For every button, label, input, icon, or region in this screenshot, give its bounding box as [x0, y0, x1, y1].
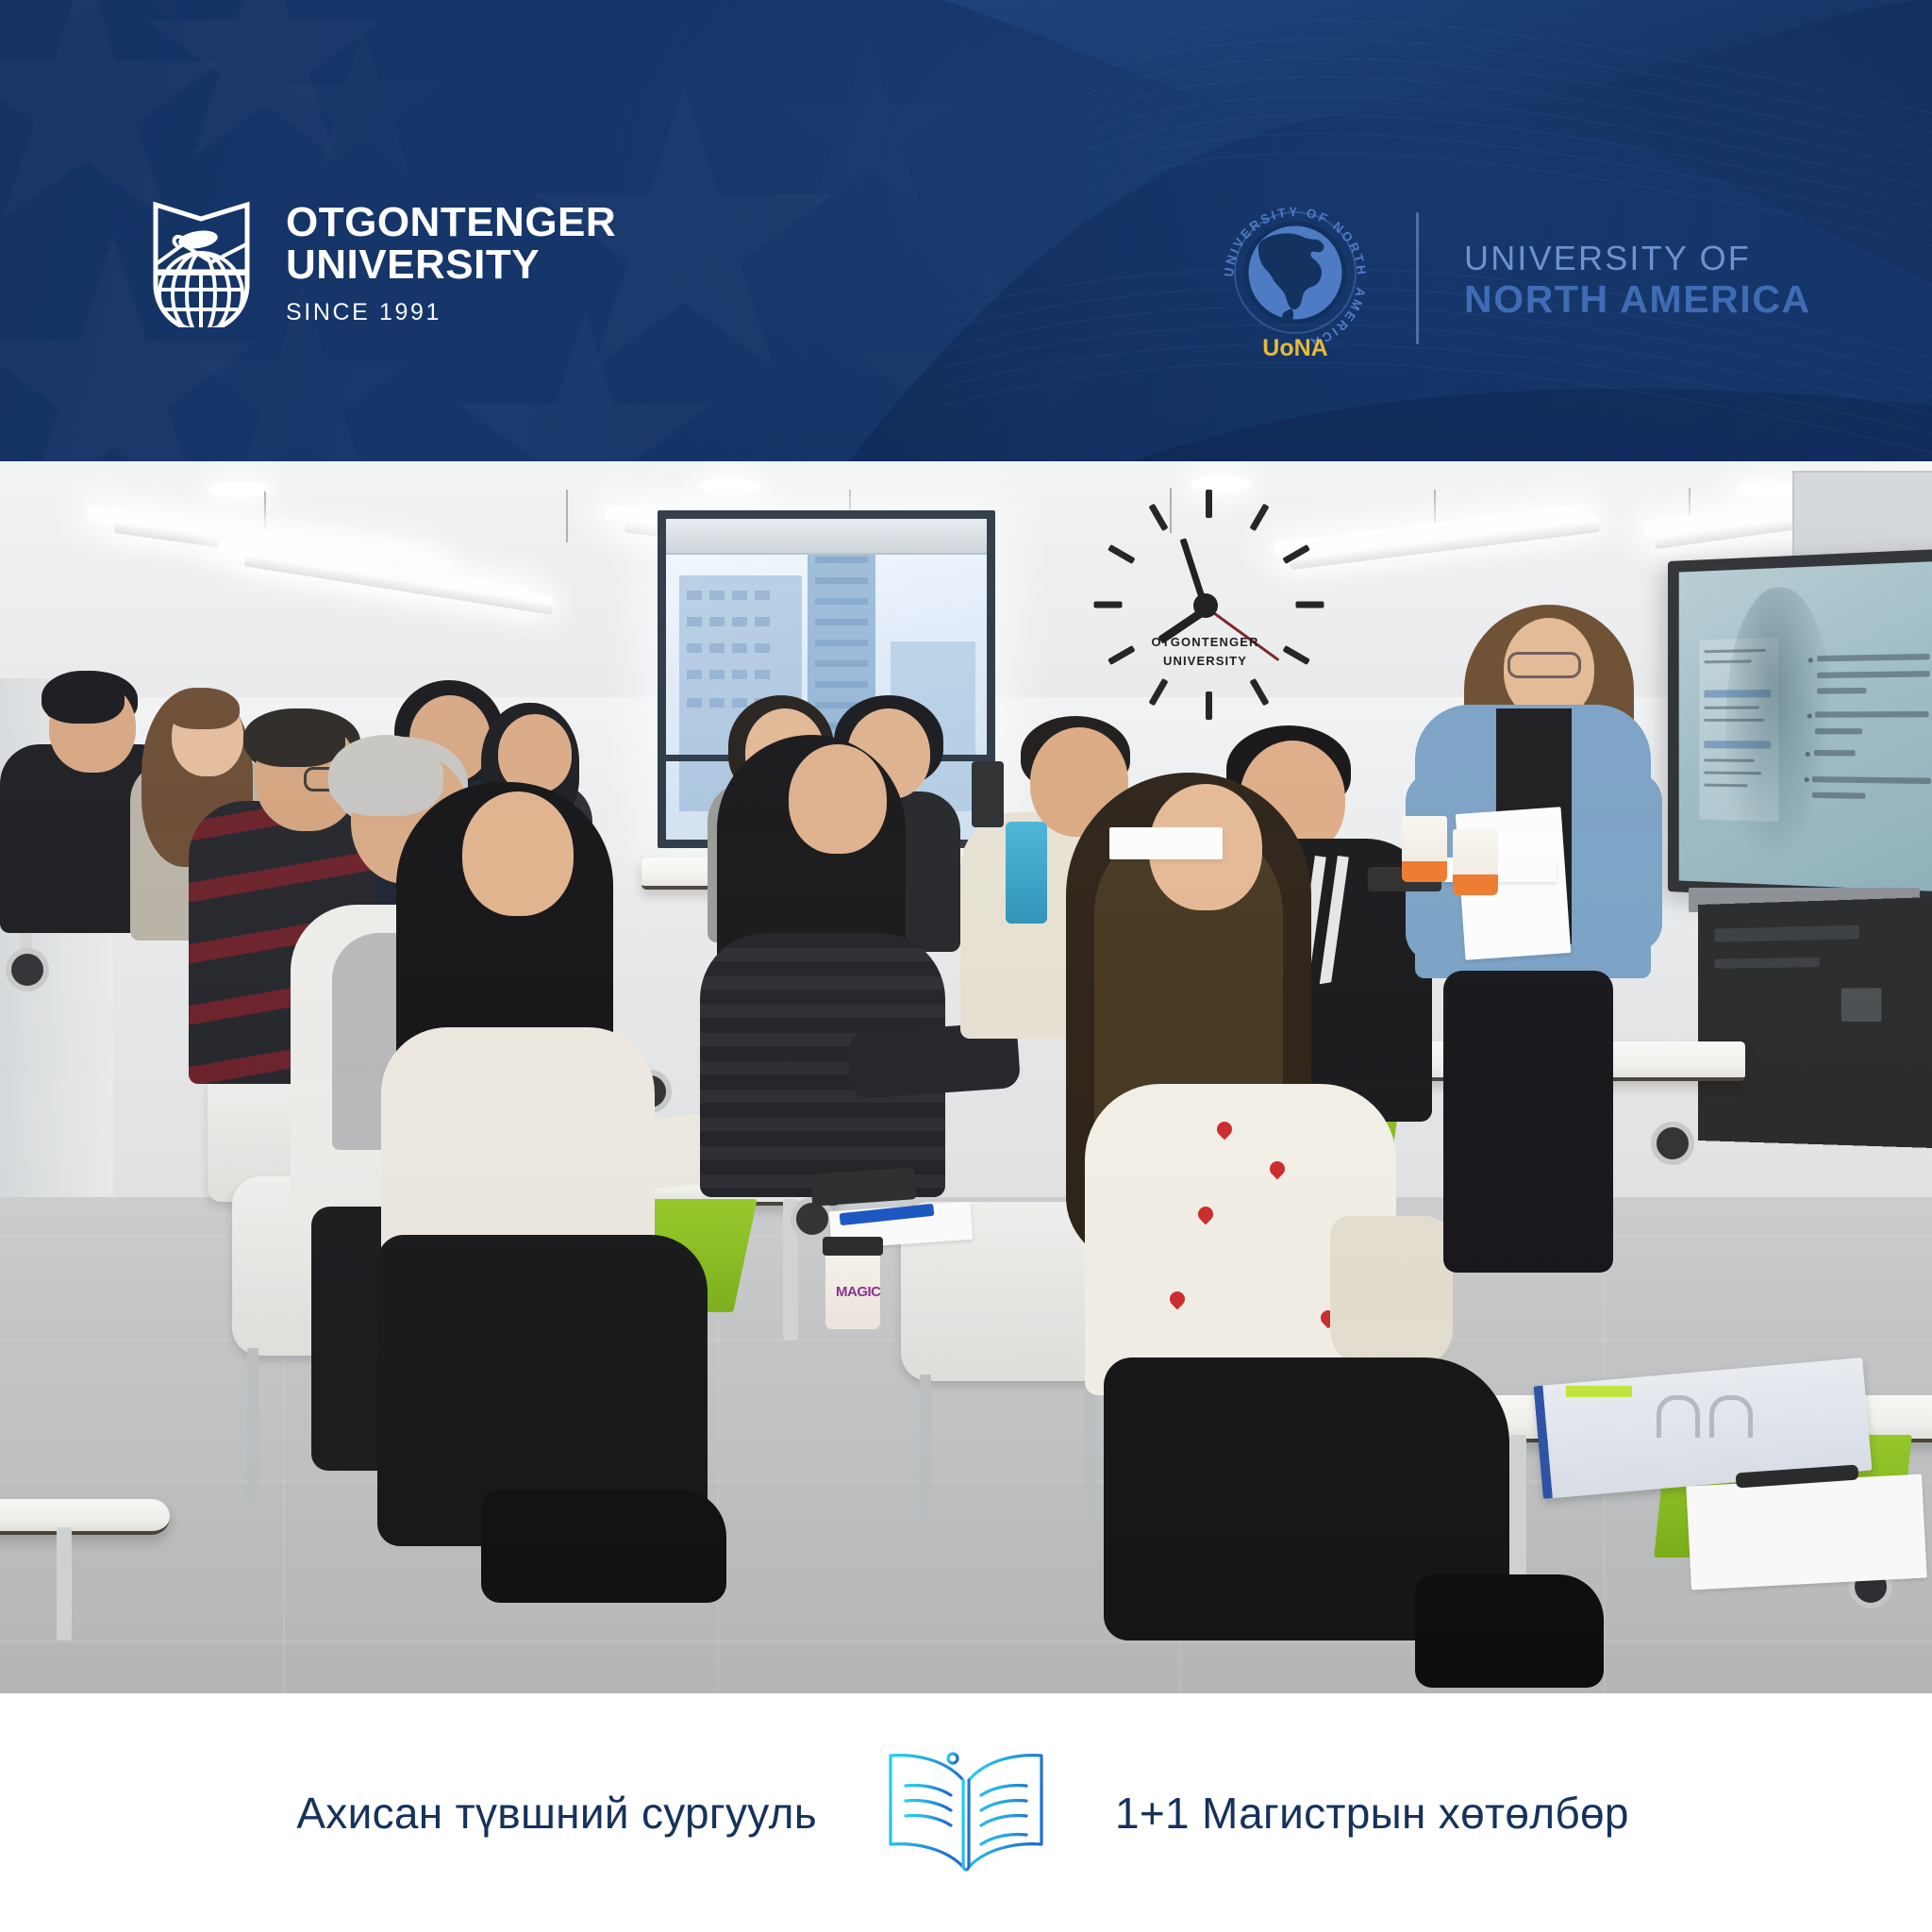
ceiling-downlight: [700, 478, 760, 494]
footer-right-text: 1+1 Магистрын хөтөлбөр: [1115, 1788, 1702, 1839]
printed-sheet: [1686, 1474, 1926, 1591]
otgontenger-since-label: SINCE 1991: [286, 299, 616, 326]
footer-bar: Ахисан түвшний сургууль: [0, 1693, 1932, 1932]
header-banner: OTGONTENGER UNIVERSITY SINCE 1991: [0, 0, 1932, 461]
slide-bullet-text: [1817, 654, 1930, 661]
footer-right-block: 1+1 Магистрын хөтөлбөр: [1060, 1788, 1702, 1839]
water-bottle: [1006, 822, 1047, 924]
uona-abbrev-label: UoNA: [1262, 335, 1327, 361]
handbag: [1330, 1216, 1453, 1367]
slide-bullet-text: [1817, 671, 1930, 678]
university-of-north-america-seal-icon: UNIVERSITY OF NORTH AMERICA UoNA: [1210, 193, 1380, 363]
otgontenger-name-line2: UNIVERSITY: [286, 243, 616, 286]
binder-ring: [1657, 1395, 1700, 1438]
boot: [1415, 1574, 1604, 1688]
classroom-photograph: OTGONTENGER UNIVERSITY: [0, 461, 1932, 1693]
uona-logo-lockup: UNIVERSITY OF NORTH AMERICA UoNA UNIVERS…: [1210, 193, 1811, 363]
smartphone: [972, 761, 1004, 827]
otgontenger-logo-lockup: OTGONTENGER UNIVERSITY SINCE 1991: [151, 200, 616, 327]
otgontenger-shield-globe-logo-icon: [151, 200, 252, 327]
otgontenger-name-line1: OTGONTENGER: [286, 201, 616, 243]
footer-left-text: Ахисан түвшний сургууль: [230, 1788, 817, 1839]
clock-hub: [1193, 593, 1218, 618]
clock-brand-label: OTGONTENGER UNIVERSITY: [1090, 633, 1321, 670]
ceiling-downlight: [209, 482, 270, 498]
window-blind: [666, 519, 987, 555]
classroom-desk: [0, 1499, 170, 1535]
notebook-paper: [1109, 827, 1223, 859]
interactive-display-board[interactable]: [1668, 548, 1932, 905]
eyeglasses-icon: [1507, 652, 1581, 678]
coffee-cup-brand-label: MAGIC: [836, 1284, 881, 1300]
open-book-icon: [872, 1742, 1060, 1884]
display-cabinet: [1698, 897, 1932, 1149]
wall-clock: OTGONTENGER UNIVERSITY: [1090, 490, 1321, 721]
poster-canvas: OTGONTENGER UNIVERSITY SINCE 1991: [0, 0, 1932, 1932]
display-screen: [1679, 560, 1932, 891]
binder-ring: [1709, 1395, 1753, 1438]
ceiling-downlight: [1736, 482, 1796, 498]
instructor-trousers: [1443, 971, 1613, 1273]
vertical-divider-icon: [1416, 212, 1419, 344]
uona-name-line1: UNIVERSITY OF: [1464, 239, 1811, 277]
footer-left-block: Ахисан түвшний сургууль: [230, 1788, 872, 1839]
highlighted-text: [1566, 1386, 1632, 1397]
presenter-shadow: [1725, 585, 1833, 868]
uona-name-line2: NORTH AMERICA: [1464, 277, 1811, 322]
